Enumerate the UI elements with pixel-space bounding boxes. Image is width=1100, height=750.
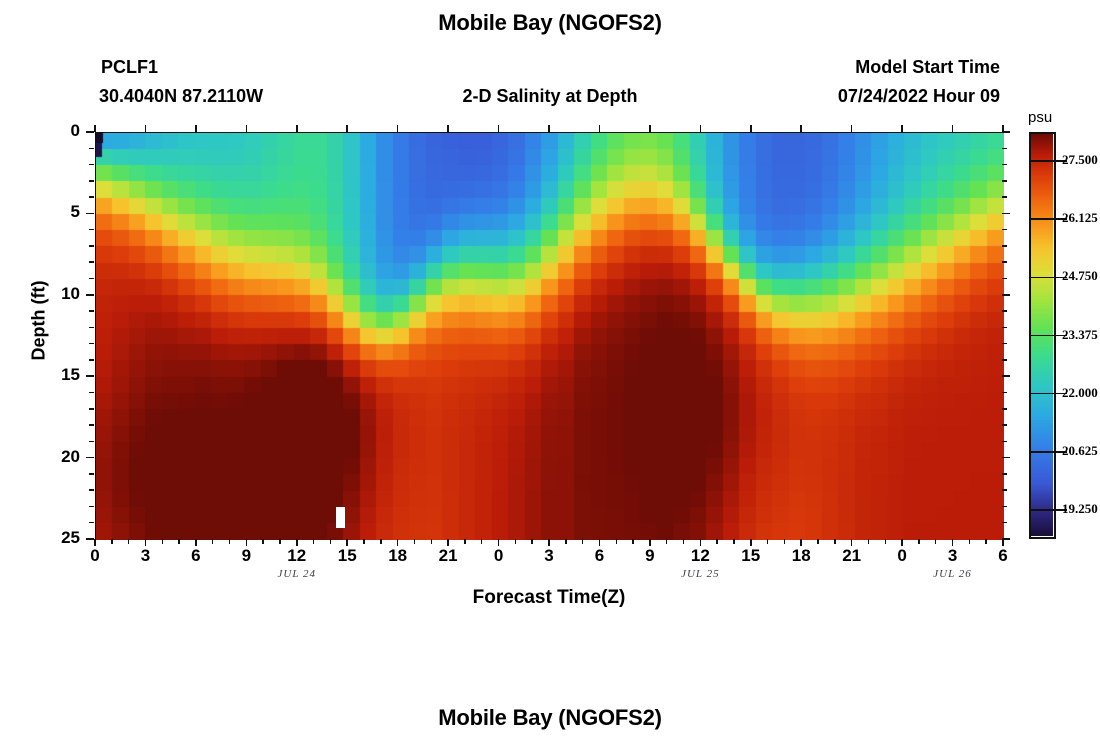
y-axis-tick <box>86 294 94 296</box>
x-axis-tick-top <box>447 125 449 132</box>
y-axis-tick <box>89 424 94 426</box>
y-axis-tick-right <box>1002 196 1007 198</box>
x-axis-tick <box>515 539 517 544</box>
x-axis-tick <box>279 539 281 544</box>
x-axis-tick <box>414 539 416 544</box>
x-axis-tick-top <box>851 125 853 132</box>
colorbar-band-separator <box>1031 218 1054 220</box>
y-axis-tick <box>89 164 94 166</box>
x-axis-tick <box>380 539 382 544</box>
colorbar-tick-label: 24.750 <box>1062 268 1100 284</box>
x-axis-tick-top <box>195 125 197 132</box>
x-axis-label: 6 <box>983 546 1023 566</box>
y-axis-tick <box>89 196 94 198</box>
x-axis-label: 12 <box>277 546 317 566</box>
x-axis-label: 0 <box>75 546 115 566</box>
x-axis-label: 3 <box>125 546 165 566</box>
x-axis-tick <box>918 539 920 544</box>
x-axis-label: 0 <box>479 546 519 566</box>
x-axis-tick <box>683 539 685 544</box>
x-axis-tick <box>901 539 903 546</box>
y-axis-tick <box>89 359 94 361</box>
y-axis-tick-right <box>1002 392 1007 394</box>
y-axis-tick <box>89 506 94 508</box>
x-axis-tick <box>851 539 853 546</box>
y-axis-tick <box>89 522 94 524</box>
x-axis-tick <box>985 539 987 544</box>
x-axis-tick <box>447 539 449 546</box>
x-axis-label: 6 <box>176 546 216 566</box>
y-axis-tick-right <box>1002 522 1007 524</box>
x-axis-tick <box>498 539 500 546</box>
footer-title: Mobile Bay (NGOFS2) <box>0 705 1100 731</box>
y-axis-tick <box>89 392 94 394</box>
y-axis-tick <box>86 375 94 377</box>
y-axis-tick <box>89 245 94 247</box>
page-title: Mobile Bay (NGOFS2) <box>0 10 1100 36</box>
x-axis-label: 9 <box>630 546 670 566</box>
y-axis-tick-right <box>1002 245 1007 247</box>
x-axis-label: 18 <box>781 546 821 566</box>
x-axis-label: 21 <box>832 546 872 566</box>
x-axis-label: 6 <box>579 546 619 566</box>
y-axis-tick-right <box>1002 213 1010 215</box>
x-axis-label: 21 <box>428 546 468 566</box>
x-axis-tick <box>767 539 769 544</box>
x-axis-tick <box>750 539 752 546</box>
x-axis-tick <box>346 539 348 546</box>
x-axis-tick <box>632 539 634 544</box>
y-axis-tick-right <box>1002 375 1010 377</box>
x-axis-tick <box>868 539 870 544</box>
x-axis-tick <box>885 539 887 544</box>
y-axis-tick-right <box>1002 131 1010 133</box>
x-axis-tick <box>296 539 298 546</box>
colorbar-band-separator <box>1031 277 1054 279</box>
x-axis-label: 9 <box>226 546 266 566</box>
x-axis-tick <box>212 539 214 544</box>
x-axis-tick <box>262 539 264 544</box>
x-axis-tick <box>666 539 668 544</box>
x-axis-tick <box>969 539 971 544</box>
x-axis-title: Forecast Time(Z) <box>95 587 1003 609</box>
x-axis-tick-top <box>952 125 954 132</box>
x-axis-label: 15 <box>731 546 771 566</box>
x-axis-label: 15 <box>327 546 367 566</box>
x-axis-tick <box>195 539 197 546</box>
x-axis-tick <box>531 539 533 544</box>
x-axis-tick <box>363 539 365 544</box>
x-axis-tick <box>313 539 315 544</box>
x-axis-tick-top <box>145 125 147 132</box>
y-axis-tick-right <box>1002 261 1007 263</box>
colorbar-band-separator <box>1031 393 1054 395</box>
y-axis-tick <box>89 278 94 280</box>
x-axis-tick <box>582 539 584 544</box>
model-start-time-value: 07/24/2022 Hour 09 <box>700 86 1000 107</box>
y-axis-tick-right <box>1002 489 1007 491</box>
x-axis-tick <box>94 539 96 546</box>
y-axis-tick <box>89 180 94 182</box>
station-id-label: PCLF1 <box>101 57 158 78</box>
y-axis-tick-right <box>1002 441 1007 443</box>
x-axis-tick-top <box>800 125 802 132</box>
x-axis-tick <box>649 539 651 546</box>
y-axis-tick-right <box>1002 278 1007 280</box>
y-axis-label: 5 <box>34 202 80 222</box>
x-axis-tick <box>565 539 567 544</box>
colorbar-band-separator <box>1031 335 1054 337</box>
y-axis-tick-right <box>1002 408 1007 410</box>
colorbar-band-separator <box>1031 451 1054 453</box>
heatmap-canvas <box>96 133 1004 540</box>
salinity-heatmap-plot <box>95 132 1003 539</box>
y-axis-tick-right <box>1002 473 1007 475</box>
x-axis-tick <box>397 539 399 546</box>
x-axis-tick-top <box>649 125 651 132</box>
x-axis-tick <box>599 539 601 546</box>
y-axis-tick-right <box>1002 310 1007 312</box>
colorbar-tick-label: 27.500 <box>1062 152 1100 168</box>
y-axis-tick <box>89 441 94 443</box>
x-axis-label: 3 <box>933 546 973 566</box>
y-axis-label: 0 <box>34 121 80 141</box>
x-axis-tick <box>431 539 433 544</box>
y-axis-tick-right <box>1002 424 1007 426</box>
y-axis-tick <box>89 310 94 312</box>
colorbar-tick-label: 22.000 <box>1062 385 1100 401</box>
x-axis-tick-top <box>498 125 500 132</box>
x-axis-tick-top <box>548 125 550 132</box>
y-axis-label: 20 <box>34 447 80 467</box>
x-axis-tick <box>162 539 164 544</box>
x-axis-tick <box>330 539 332 544</box>
x-axis-date-label: JUL 25 <box>655 568 745 580</box>
y-axis-tick-right <box>1002 538 1010 540</box>
y-axis-label: 25 <box>34 528 80 548</box>
y-axis-tick <box>89 408 94 410</box>
x-axis-tick <box>700 539 702 546</box>
y-axis-tick-right <box>1002 457 1010 459</box>
x-axis-tick <box>733 539 735 544</box>
station-coordinates: 30.4040N 87.2110W <box>99 86 263 107</box>
y-axis-tick-right <box>1002 359 1007 361</box>
x-axis-tick-top <box>750 125 752 132</box>
y-axis-tick <box>89 327 94 329</box>
x-axis-tick <box>178 539 180 544</box>
y-axis-tick-right <box>1002 343 1007 345</box>
y-axis-tick-right <box>1002 294 1010 296</box>
x-axis-tick <box>935 539 937 544</box>
x-axis-label: 3 <box>529 546 569 566</box>
x-axis-tick <box>616 539 618 544</box>
y-axis-tick <box>89 261 94 263</box>
y-axis-tick <box>89 229 94 231</box>
x-axis-date-label: JUL 26 <box>908 568 998 580</box>
x-axis-date-label: JUL 24 <box>252 568 342 580</box>
x-axis-tick <box>716 539 718 544</box>
y-axis-tick <box>86 538 94 540</box>
x-axis-tick-top <box>700 125 702 132</box>
y-axis-tick-right <box>1002 229 1007 231</box>
y-axis-tick <box>89 148 94 150</box>
x-axis-tick <box>111 539 113 544</box>
colorbar-tick-label: 20.625 <box>1062 443 1100 459</box>
y-axis-tick <box>89 489 94 491</box>
colorbar-unit-label: psu <box>1028 109 1052 126</box>
y-axis-tick-right <box>1002 506 1007 508</box>
x-axis-tick-top <box>599 125 601 132</box>
colorbar-tick-label: 26.125 <box>1062 210 1100 226</box>
x-axis-label: 12 <box>680 546 720 566</box>
x-axis-label: 0 <box>882 546 922 566</box>
colorbar-tick-label: 19.250 <box>1062 501 1100 517</box>
x-axis-tick <box>1002 539 1004 546</box>
y-axis-tick <box>86 457 94 459</box>
x-axis-tick-top <box>94 125 96 132</box>
x-axis-tick <box>229 539 231 544</box>
x-axis-tick <box>464 539 466 544</box>
x-axis-tick <box>145 539 147 546</box>
x-axis-tick <box>817 539 819 544</box>
colorbar-band-separator <box>1031 509 1054 511</box>
y-axis-title: Depth (ft) <box>29 261 50 381</box>
y-axis-tick <box>89 343 94 345</box>
x-axis-tick <box>481 539 483 544</box>
model-start-time-label: Model Start Time <box>700 57 1000 78</box>
x-axis-tick <box>128 539 130 544</box>
x-axis-tick <box>952 539 954 546</box>
y-axis-tick-right <box>1002 327 1007 329</box>
x-axis-tick <box>246 539 248 546</box>
y-axis-tick-right <box>1002 164 1007 166</box>
missing-data-cell <box>336 507 345 528</box>
y-axis-tick <box>86 213 94 215</box>
colorbar-band-separator <box>1031 160 1054 162</box>
y-axis-tick <box>86 131 94 133</box>
x-axis-tick-top <box>246 125 248 132</box>
x-axis-tick-top <box>397 125 399 132</box>
y-axis-tick-right <box>1002 180 1007 182</box>
x-axis-tick-top <box>296 125 298 132</box>
y-axis-tick-right <box>1002 148 1007 150</box>
x-axis-tick <box>800 539 802 546</box>
x-axis-tick-top <box>901 125 903 132</box>
x-axis-tick <box>834 539 836 544</box>
x-axis-label: 18 <box>378 546 418 566</box>
x-axis-tick <box>784 539 786 544</box>
colorbar-tick-label: 23.375 <box>1062 327 1100 343</box>
x-axis-tick <box>548 539 550 546</box>
y-axis-tick <box>89 473 94 475</box>
x-axis-tick-top <box>346 125 348 132</box>
